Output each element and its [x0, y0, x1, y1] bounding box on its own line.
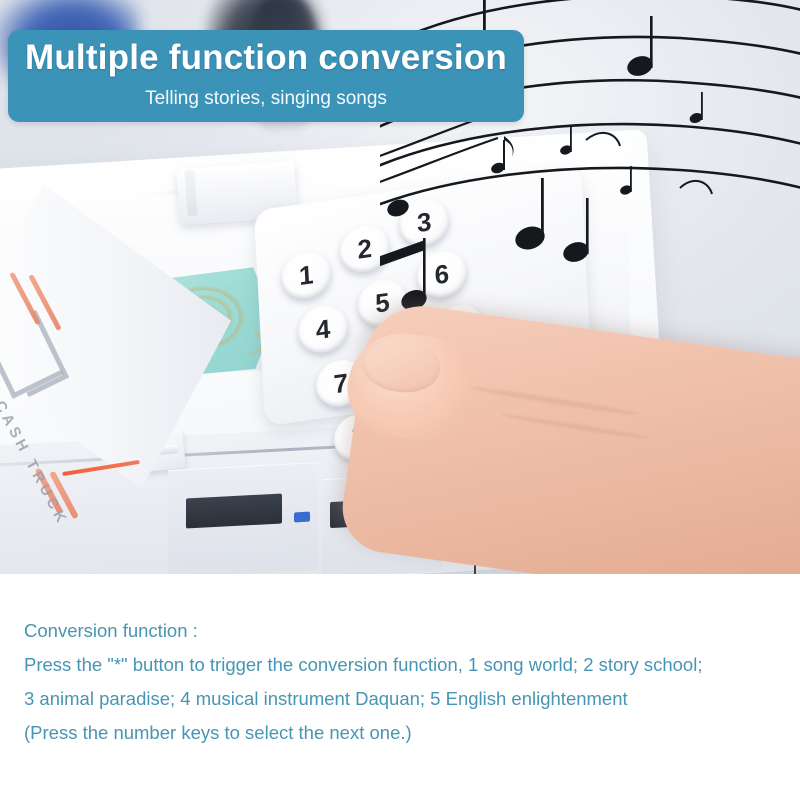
caption-block: Conversion function : Press the "*" butt…: [24, 614, 784, 750]
headline-banner: Multiple function conversion Telling sto…: [8, 30, 524, 122]
banner-title: Multiple function conversion: [8, 38, 524, 78]
keypad-key-2[interactable]: 2: [339, 222, 391, 275]
keypad-key-6[interactable]: 6: [416, 248, 468, 301]
toy-blue-indicator: [294, 512, 310, 523]
caption-line-1: Conversion function :: [24, 614, 784, 648]
banner-subtitle: Telling stories, singing songs: [8, 88, 524, 110]
keypad-key-1[interactable]: 1: [280, 249, 332, 302]
toy-card-slot[interactable]: [186, 493, 282, 528]
keypad-key-3[interactable]: 3: [398, 196, 450, 249]
caption-line-4: (Press the number keys to select the nex…: [24, 716, 784, 750]
caption-line-2: Press the "*" button to trigger the conv…: [24, 648, 784, 682]
keypad-key-4[interactable]: 4: [297, 303, 349, 356]
caption-line-3: 3 animal paradise; 4 musical instrument …: [24, 682, 784, 716]
promo-image: CASH TRUCK 1 2 3 4 5 6 7 8 9 * 0: [0, 0, 800, 800]
